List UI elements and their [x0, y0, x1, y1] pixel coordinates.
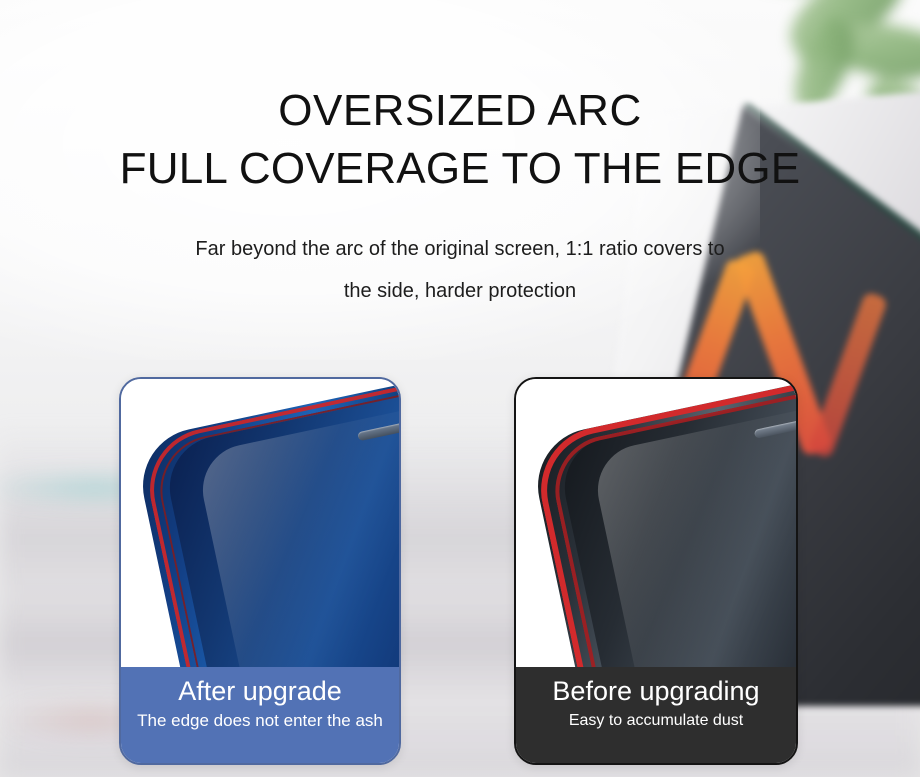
chevron-shape	[808, 291, 889, 459]
headline: OVERSIZED ARC FULL COVERAGE TO THE EDGE	[0, 82, 920, 198]
card-title: After upgrade	[121, 673, 399, 709]
subheadline: Far beyond the arc of the original scree…	[120, 228, 800, 312]
card-caption-after-upgrade: After upgrade The edge does not enter th…	[121, 667, 399, 763]
comparison-card-before-upgrading: Before upgrading Easy to accumulate dust	[514, 377, 798, 765]
phone-render	[132, 379, 399, 667]
headline-line-1: OVERSIZED ARC	[0, 82, 920, 140]
headline-line-2: FULL COVERAGE TO THE EDGE	[0, 140, 920, 198]
comparison-card-after-upgrade: After upgrade The edge does not enter th…	[119, 377, 401, 765]
card-title: Before upgrading	[516, 673, 796, 709]
subheadline-line-2: the side, harder protection	[120, 270, 800, 312]
product-photo-after-upgrade	[121, 379, 399, 667]
card-description: The edge does not enter the ash	[121, 709, 399, 733]
subheadline-line-1: Far beyond the arc of the original scree…	[120, 228, 800, 270]
phone-render	[527, 379, 796, 667]
card-description: Easy to accumulate dust	[516, 709, 796, 733]
card-caption-before-upgrading: Before upgrading Easy to accumulate dust	[516, 667, 796, 763]
product-photo-before-upgrading	[516, 379, 796, 667]
product-marketing-banner: OVERSIZED ARC FULL COVERAGE TO THE EDGE …	[0, 0, 920, 777]
